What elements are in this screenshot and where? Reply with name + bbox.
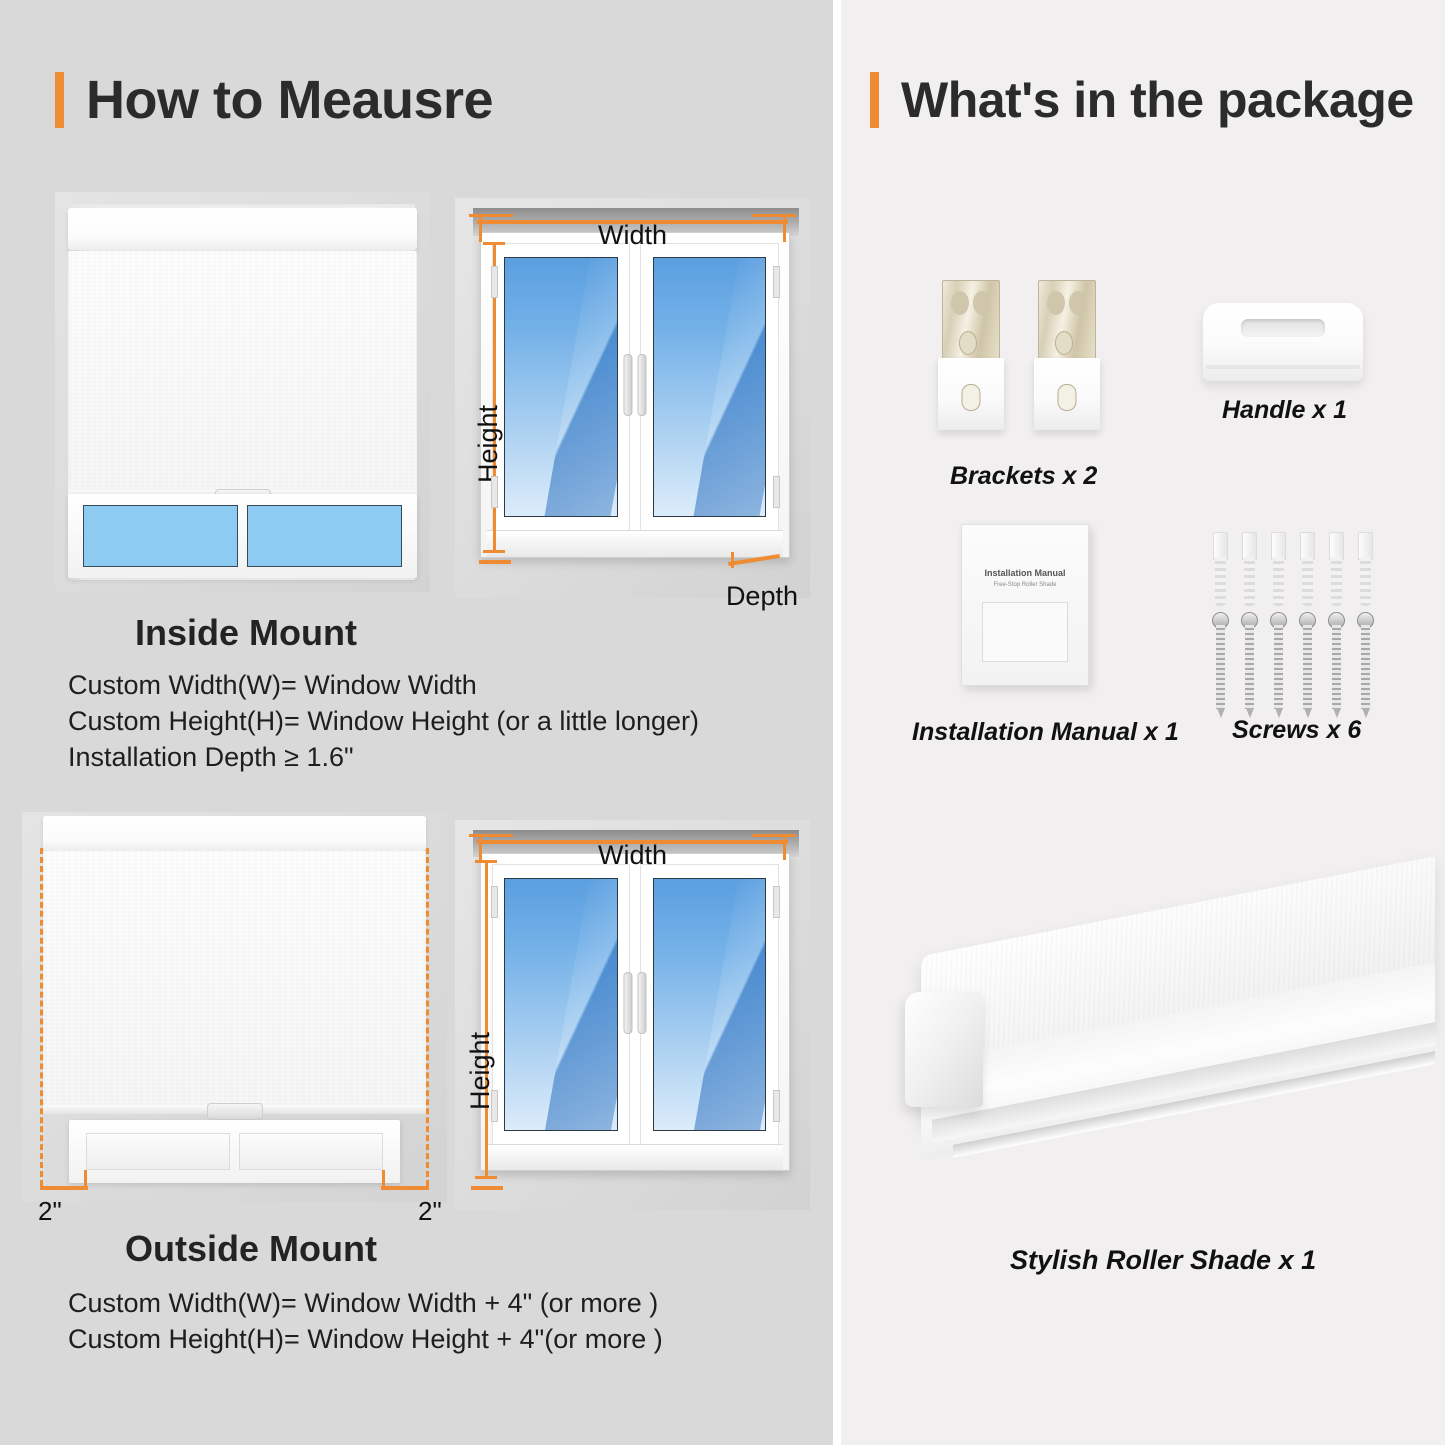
width-mark-left (469, 214, 513, 217)
inside-mount-line-3: Installation Depth ≥ 1.6" (68, 742, 354, 773)
overhang-left-label: 2" (38, 1196, 62, 1227)
screw-tip (1362, 708, 1370, 718)
anchor-body (1302, 557, 1313, 606)
right-sash (640, 243, 779, 531)
outside-mount-title: Outside Mount (125, 1228, 377, 1270)
window-handles-icon (624, 354, 647, 416)
width-tick-right (783, 834, 786, 860)
hinge-icon (491, 266, 498, 298)
overhang-guide-right (426, 848, 429, 1186)
glass-pane (504, 257, 618, 517)
anchor-body (1360, 557, 1371, 606)
glass-pane (504, 878, 618, 1131)
anchor-body (1215, 557, 1226, 606)
manual-cover-title: Installation Manual (984, 569, 1065, 579)
inside-mount-line-1: Custom Width(W)= Window Width (68, 670, 477, 701)
wall-anchor-item (1240, 532, 1259, 606)
wall-anchor-item (1327, 532, 1346, 606)
outside-mount-line-2: Custom Height(H)= Window Height + 4"(or … (68, 1324, 663, 1355)
window-below-shade (68, 494, 417, 578)
inside-mount-title: Inside Mount (135, 612, 357, 654)
anchor-body (1244, 557, 1255, 606)
screw-item (1212, 612, 1229, 718)
handle-body (1203, 303, 1363, 381)
anchor-head (1242, 532, 1257, 560)
inside-mount-shade-illustration (55, 192, 430, 592)
inside-mount-window-diagram: Width Height Depth (455, 198, 810, 598)
height-tick-top (475, 860, 497, 863)
screw-shaft (1216, 625, 1225, 709)
anchor-head (1300, 532, 1315, 560)
screw-shaft (1303, 625, 1312, 709)
bracket-item (938, 280, 1004, 430)
height-end-mark (479, 560, 511, 564)
screw-shaft (1245, 625, 1254, 709)
glass-pane (83, 505, 238, 567)
window-below-shade (69, 1120, 401, 1182)
height-dimension-line (485, 860, 488, 1178)
outside-mount-line-1: Custom Width(W)= Window Width + 4" (or m… (68, 1288, 658, 1319)
bracket-screw-hole (1058, 384, 1077, 411)
window-frame (480, 853, 791, 1171)
window-handles-icon (624, 972, 647, 1034)
anchor-head (1329, 532, 1344, 560)
overhang-tick-right (382, 1170, 385, 1190)
hinge-icon (773, 266, 780, 298)
width-mark-right (752, 214, 796, 217)
wall-anchor-item (1269, 532, 1288, 606)
package-title: What's in the package (901, 75, 1414, 125)
overhang-measure-right (381, 1186, 429, 1190)
glass-pane (653, 878, 767, 1131)
left-sash (492, 864, 631, 1145)
shade-fabric (68, 251, 417, 491)
handle-bar-icon (638, 972, 647, 1034)
screw-item (1328, 612, 1345, 718)
overhang-tick-left (84, 1170, 87, 1190)
outside-mount-shade-illustration (22, 812, 447, 1202)
screw-tip (1217, 708, 1225, 718)
installation-manual-label: Installation Manual x 1 (912, 718, 1179, 747)
width-tick-left (479, 214, 482, 242)
handle-bar-icon (638, 354, 647, 416)
window-rail (239, 1133, 383, 1170)
how-to-measure-title: How to Meausre (86, 73, 493, 127)
window-sill (487, 1144, 783, 1170)
height-label: Height (473, 405, 504, 483)
manual-cover-figure (982, 602, 1068, 662)
depth-tick (731, 552, 734, 568)
handle-label: Handle x 1 (1222, 396, 1347, 425)
roller-shade-label: Stylish Roller Shade x 1 (1010, 1245, 1316, 1276)
width-mark-right (752, 834, 796, 837)
window-rail (86, 1133, 230, 1170)
bracket-screw-hole (962, 384, 981, 411)
width-label: Width (598, 220, 667, 251)
overhang-measure-left (40, 1186, 88, 1190)
window-frame (480, 232, 791, 558)
shade-valance (43, 816, 426, 851)
installation-manual-item: Installation Manual Free-Stop Roller Sha… (961, 524, 1089, 686)
anchor-body (1331, 557, 1342, 606)
screw-shaft (1274, 625, 1283, 709)
glass-pane (247, 505, 402, 567)
handle-bar-icon (624, 972, 633, 1034)
accent-bar-icon (55, 72, 64, 128)
brackets-label: Brackets x 2 (950, 462, 1097, 491)
wall-anchor-item (1298, 532, 1317, 606)
infographic-page: How to Meausre What's in the package (0, 0, 1445, 1445)
left-sash (492, 243, 631, 531)
manual-cover-subtitle: Free-Stop Roller Shade (993, 582, 1056, 588)
height-tick-bottom (475, 1176, 497, 1179)
screw-item (1357, 612, 1374, 718)
overhang-guide-left (40, 848, 43, 1186)
screw-item (1299, 612, 1316, 718)
height-end-mark (471, 1186, 503, 1190)
hinge-icon (773, 476, 780, 508)
height-tick-top (483, 242, 505, 245)
screws-label: Screws x 6 (1232, 716, 1361, 745)
handle-bar-icon (624, 354, 633, 416)
width-label: Width (598, 840, 667, 871)
width-tick-left (479, 834, 482, 860)
depth-label: Depth (726, 581, 798, 612)
width-tick-right (783, 214, 786, 242)
handle-item (1203, 303, 1363, 381)
window-sill (487, 530, 783, 557)
inside-mount-line-2: Custom Height(H)= Window Height (or a li… (68, 706, 699, 737)
handle-grip-slot (1241, 319, 1324, 338)
accent-bar-icon (870, 72, 879, 128)
screw-shaft (1361, 625, 1370, 709)
hinge-icon (773, 886, 780, 918)
shade-valance (68, 208, 417, 250)
anchor-body (1273, 557, 1284, 606)
shade-fabric (43, 851, 426, 1105)
anchor-head (1271, 532, 1286, 560)
hinge-icon (491, 476, 498, 508)
shade-pull-handle (207, 1103, 263, 1120)
bracket-item (1034, 280, 1100, 430)
screw-shaft (1332, 625, 1341, 709)
height-tick-bottom (483, 550, 505, 553)
hinge-icon (773, 1090, 780, 1122)
hinge-icon (491, 886, 498, 918)
handle-lip (1206, 365, 1360, 369)
screw-item (1241, 612, 1258, 718)
overhang-right-label: 2" (418, 1196, 442, 1227)
how-to-measure-heading: How to Meausre (55, 72, 493, 128)
shade-end-cap (905, 992, 983, 1107)
panel-divider (833, 0, 841, 1445)
hinge-icon (491, 1090, 498, 1122)
width-mark-left (469, 834, 513, 837)
right-sash (640, 864, 779, 1145)
wall-anchor-item (1211, 532, 1230, 606)
anchor-head (1358, 532, 1373, 560)
anchor-head (1213, 532, 1228, 560)
wall-anchor-item (1356, 532, 1375, 606)
roller-shade-product-image (905, 880, 1435, 1210)
outside-mount-window-diagram: Width Height (455, 820, 810, 1210)
screw-item (1270, 612, 1287, 718)
package-heading: What's in the package (870, 72, 1414, 128)
glass-pane (653, 257, 767, 517)
